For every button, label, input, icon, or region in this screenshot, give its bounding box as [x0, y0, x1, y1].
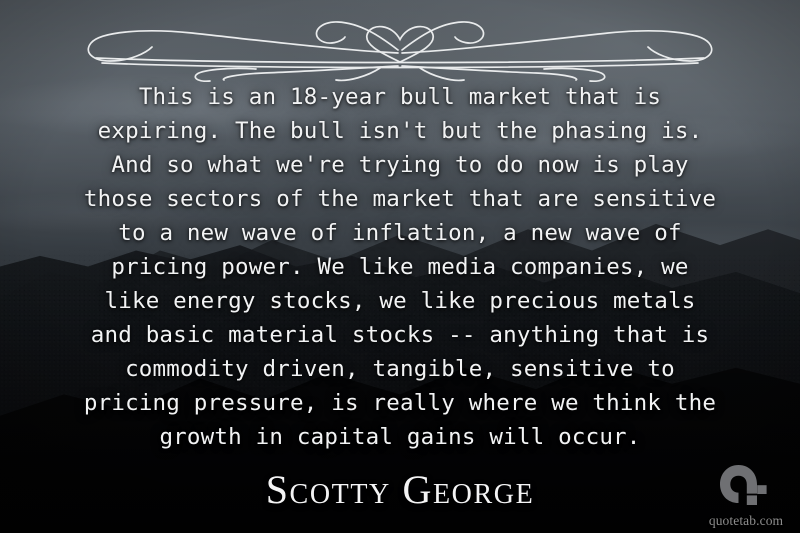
quote-card: This is an 18-year bull market that is e… — [0, 0, 800, 533]
quote-line: This is an 18-year bull market that is — [22, 80, 778, 114]
quote-line: commodity driven, tangible, sensitive to — [22, 352, 778, 386]
quote-author: Scotty George — [0, 466, 800, 513]
quote-line: and basic material stocks -- anything th… — [22, 318, 778, 352]
quote-text: This is an 18-year bull market that is e… — [0, 80, 800, 454]
quote-line: And so what we're trying to do now is pl… — [22, 148, 778, 182]
heart-flourish-divider-icon — [80, 6, 720, 82]
quote-line: growth in capital gains will occur. — [22, 420, 778, 454]
quote-line: pricing power. We like media companies, … — [22, 250, 778, 284]
quote-line: expiring. The bull isn't but the phasing… — [22, 114, 778, 148]
quote-line: those sectors of the market that are sen… — [22, 182, 778, 216]
quotetab-logo-icon — [718, 463, 774, 515]
quote-line: to a new wave of inflation, a new wave o… — [22, 216, 778, 250]
quote-line: like energy stocks, we like precious met… — [22, 284, 778, 318]
site-watermark[interactable]: quotetab.com — [700, 463, 792, 529]
site-watermark-label: quotetab.com — [700, 513, 792, 529]
quote-line: pricing pressure, is really where we thi… — [22, 386, 778, 420]
